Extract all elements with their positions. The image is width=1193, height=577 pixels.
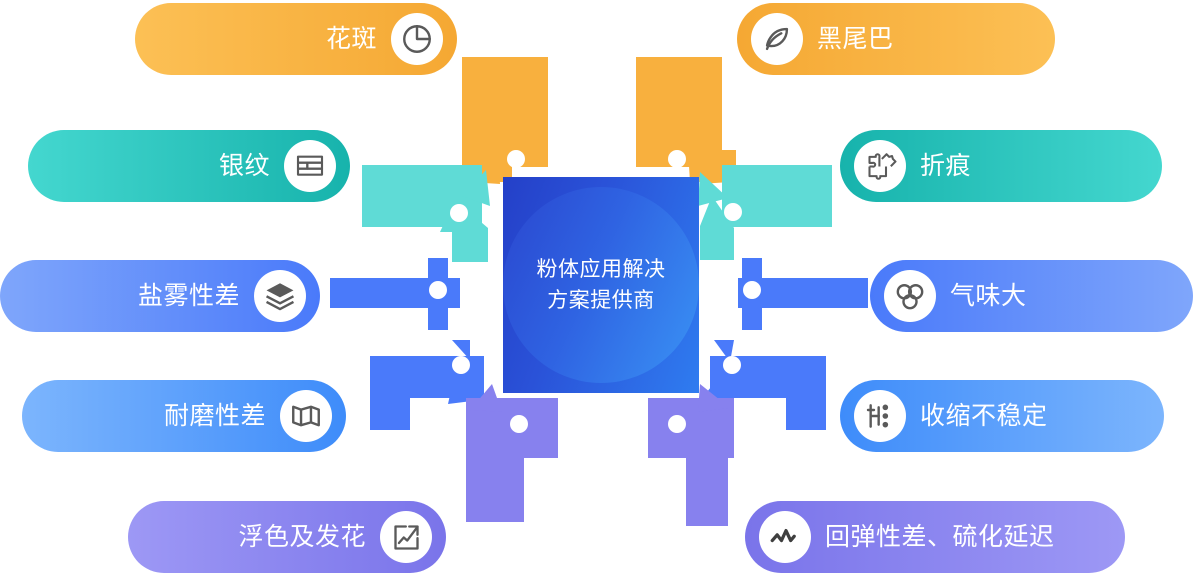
connector-yin-wen: [362, 165, 490, 262]
connector-dot: [743, 281, 761, 299]
trend-up-box-icon: [380, 511, 432, 563]
connector-dot: [668, 150, 686, 168]
connector-hui-tan-xing-cha: [648, 384, 734, 526]
connector-dot: [452, 356, 470, 374]
node-yin-wen[interactable]: 银纹: [28, 130, 350, 202]
puzzle-icon: [854, 140, 906, 192]
node-hua-ban[interactable]: 花斑: [135, 3, 457, 75]
node-qi-wei-da[interactable]: 气味大: [870, 260, 1193, 332]
node-label: 花斑: [326, 27, 377, 52]
connector-hua-ban: [462, 57, 548, 184]
node-label: 浮色及发花: [238, 525, 366, 550]
node-label: 折痕: [920, 154, 971, 179]
recycle-icon: [884, 270, 936, 322]
connector-dot: [429, 281, 447, 299]
node-hui-tan-xing-cha[interactable]: 回弹性差、硫化延迟: [745, 501, 1125, 573]
connector-dot: [668, 415, 686, 433]
node-yan-wu-xing-cha[interactable]: 盐雾性差: [0, 260, 320, 332]
connector-dot: [450, 204, 468, 222]
node-tree-icon: [854, 390, 906, 442]
node-label: 气味大: [950, 284, 1027, 309]
book-open-icon: [280, 390, 332, 442]
connector-qi-wei-da: [738, 258, 868, 330]
connector-dot: [507, 150, 525, 168]
node-label: 回弹性差、硫化延迟: [825, 525, 1055, 550]
node-hei-wei-ba[interactable]: 黑尾巴: [737, 3, 1055, 75]
node-label: 盐雾性差: [138, 284, 240, 309]
node-fu-se-ji-fa-hua[interactable]: 浮色及发花: [128, 501, 446, 573]
node-shou-suo-bu-wen-ding[interactable]: 收缩不稳定: [840, 380, 1164, 452]
node-label: 银纹: [219, 154, 270, 179]
layers-icon: [254, 270, 306, 322]
connector-fu-se-ji-fa-hua: [466, 384, 558, 522]
node-label: 耐磨性差: [164, 404, 266, 429]
connector-dot: [510, 415, 528, 433]
brick-wall-icon: [284, 140, 336, 192]
node-label: 黑尾巴: [817, 27, 894, 52]
node-zhe-hen[interactable]: 折痕: [840, 130, 1162, 202]
connector-dot: [724, 203, 742, 221]
center-node-label: 粉体应用解决 方案提供商: [503, 177, 699, 393]
pie-chart-icon: [391, 13, 443, 65]
node-nai-mo-xing-cha[interactable]: 耐磨性差: [22, 380, 346, 452]
diagram-canvas: 粉体应用解决 方案提供商 花斑 黑尾巴: [0, 0, 1193, 577]
connector-yan-wu-xing-cha: [330, 258, 460, 330]
node-label: 收缩不稳定: [920, 404, 1048, 429]
connector-hei-wei-ba: [636, 57, 736, 184]
line-chart-icon: [759, 511, 811, 563]
center-node[interactable]: 粉体应用解决 方案提供商: [503, 177, 699, 393]
leaf-icon: [751, 13, 803, 65]
connector-dot: [723, 356, 741, 374]
